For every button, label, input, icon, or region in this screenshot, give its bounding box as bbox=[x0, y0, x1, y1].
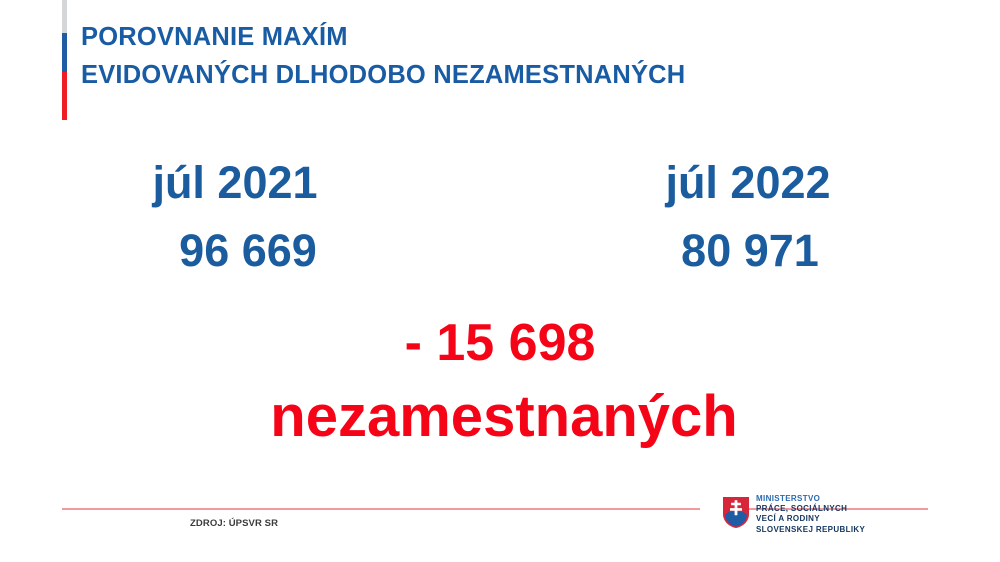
title-block: POROVNANIE MAXÍM EVIDOVANÝCH DLHODOBO NE… bbox=[62, 0, 942, 120]
ministry-logo-text: MINISTERSTVO PRÁCE, SOCIÁLNYCH VECÍ A RO… bbox=[756, 494, 912, 535]
ministry-logo-line-1: MINISTERSTVO bbox=[756, 494, 912, 504]
slovak-coat-of-arms-shield-icon bbox=[722, 496, 750, 529]
page-title-line-2: EVIDOVANÝCH DLHODOBO NEZAMESTNANÝCH bbox=[81, 56, 931, 94]
ministry-logo-line-2: PRÁCE, SOCIÁLNYCH bbox=[756, 504, 912, 514]
comparison-section: júl 2021 96 669 júl 2022 80 971 bbox=[0, 155, 1000, 295]
comparison-label-2022: júl 2022 bbox=[598, 155, 898, 211]
ministry-logo: MINISTERSTVO PRÁCE, SOCIÁLNYCH VECÍ A RO… bbox=[722, 494, 912, 542]
tricolor-segment-white bbox=[62, 0, 67, 33]
comparison-value-2021: 96 669 bbox=[98, 211, 398, 279]
difference-block: - 15 698 nezamestnaných bbox=[0, 312, 1000, 452]
footer-divider-left bbox=[62, 508, 700, 510]
comparison-value-2022: 80 971 bbox=[600, 211, 900, 279]
ministry-logo-line-4: SLOVENSKEJ REPUBLIKY bbox=[756, 525, 912, 535]
comparison-label-2021: júl 2021 bbox=[85, 155, 385, 211]
difference-unit-label: nezamestnaných bbox=[4, 374, 1000, 452]
ministry-logo-line-3: VECÍ A RODINY bbox=[756, 514, 912, 524]
slide-canvas: POROVNANIE MAXÍM EVIDOVANÝCH DLHODOBO NE… bbox=[0, 0, 1000, 562]
source-note: ZDROJ: ÚPSVR SR bbox=[190, 518, 278, 529]
tricolor-segment-red bbox=[62, 72, 67, 120]
tricolor-segment-blue bbox=[62, 33, 67, 72]
difference-number: - 15 698 bbox=[0, 312, 1000, 374]
page-title: POROVNANIE MAXÍM EVIDOVANÝCH DLHODOBO NE… bbox=[81, 18, 931, 94]
comparison-column-2021: júl 2021 96 669 bbox=[90, 155, 390, 279]
comparison-column-2022: júl 2022 80 971 bbox=[600, 155, 900, 279]
slovak-tricolor-bar-icon bbox=[62, 0, 67, 120]
page-title-line-1: POROVNANIE MAXÍM bbox=[81, 18, 931, 56]
